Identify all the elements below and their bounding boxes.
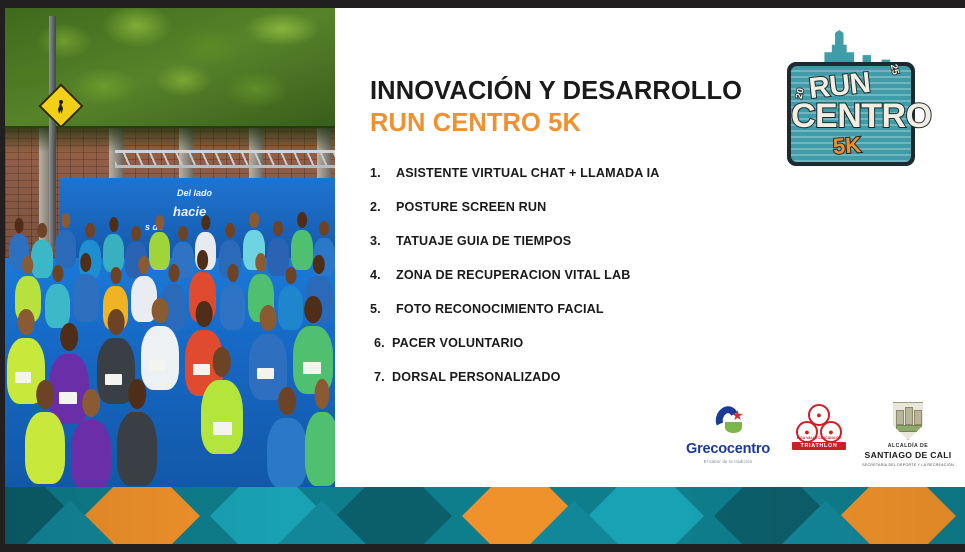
list-item: 1. ASISTENTE VIRTUAL CHAT + LLAMADA IA <box>370 166 800 180</box>
grecocentro-tagline: El sabor de la tradición <box>675 459 781 464</box>
pedestrian-figure-icon <box>55 100 67 114</box>
photo-runner <box>45 284 70 328</box>
list-item-number: 6. <box>374 336 392 350</box>
photo-runner <box>149 232 170 270</box>
list-item-number: 3. <box>370 234 396 248</box>
photo-race-bib <box>193 364 210 375</box>
chevron-footer-band <box>5 487 965 544</box>
cali-line-2: SANTIAGO DE CALI <box>862 450 954 460</box>
list-item-label: FOTO RECONOCIMIENTO FACIAL <box>396 302 604 316</box>
triathlon-league-name: LIGA VALLECAUCANA DE <box>792 436 846 440</box>
list-item: 4. ZONA DE RECUPERACION VITAL LAB <box>370 268 800 282</box>
cali-arms-tower <box>914 410 922 425</box>
photo-runner <box>267 418 307 487</box>
photo-race-bib <box>105 374 122 385</box>
logo-word-5k: 5K <box>832 132 862 160</box>
list-item-label: TATUAJE GUIA DE TIEMPOS <box>396 234 571 248</box>
sponsor-alcaldia-cali: ALCALDÍA DE SANTIAGO DE CALI SECRETARÍA … <box>862 402 954 467</box>
triathlon-mark-icon: ● ● ● LIGA VALLECAUCANA DE TRIATHLON <box>792 404 846 450</box>
cali-line-1: ALCALDÍA DE <box>862 443 954 449</box>
list-item-label: PACER VOLUNTARIO <box>392 336 523 350</box>
slide-viewer: s de Del lado hacie <box>0 0 965 552</box>
photo-runner <box>220 284 245 330</box>
photo-runner <box>117 412 157 486</box>
photo-race-bib <box>59 392 77 404</box>
grecocentro-leaf-icon <box>725 422 742 433</box>
list-item: 3. TATUAJE GUIA DE TIEMPOS <box>370 234 800 248</box>
race-photograph: s de Del lado hacie <box>5 8 335 487</box>
triathlon-wordmark: TRIATHLON <box>792 443 846 449</box>
list-item: 5. FOTO RECONOCIMIENTO FACIAL <box>370 302 800 316</box>
list-item-label: ZONA DE RECUPERACION VITAL LAB <box>396 268 630 282</box>
page-title: INNOVACIÓN Y DESARROLLO <box>370 76 790 106</box>
photo-race-bib <box>303 362 321 374</box>
photo-runner <box>25 412 65 484</box>
photo-runner <box>73 274 99 322</box>
photo-race-bib <box>149 360 166 371</box>
list-item-number: 4. <box>370 268 396 282</box>
logo-year-right: 25 <box>888 63 901 76</box>
sponsor-triathlon-league: ● ● ● LIGA VALLECAUCANA DE TRIATHLON <box>790 404 848 450</box>
slide-title-block: INNOVACIÓN Y DESARROLLO RUN CENTRO 5K <box>370 76 790 138</box>
list-item: 6. PACER VOLUNTARIO <box>370 336 800 350</box>
logo-word-centro: CENTRO <box>791 97 932 136</box>
list-item: 7. DORSAL PERSONALIZADO <box>370 370 800 384</box>
run-centro-5k-logo: RUN CENTRO 5K 20 25 <box>779 26 927 178</box>
cali-arms-tower <box>896 410 904 425</box>
sponsor-logo-row: Grecocentro El sabor de la tradición ● ●… <box>338 398 965 478</box>
photo-runner <box>71 420 111 487</box>
list-item-number: 1. <box>370 166 396 180</box>
list-item: 2. POSTURE SCREEN RUN <box>370 200 800 214</box>
photo-race-bib <box>257 368 274 379</box>
list-item-number: 5. <box>370 302 396 316</box>
sponsor-grecocentro: Grecocentro El sabor de la tradición <box>675 406 781 464</box>
photo-banner-text-1: Del lado <box>177 188 212 198</box>
swimmer-icon: ● <box>813 409 825 421</box>
photo-runner <box>55 230 76 268</box>
photo-race-bib <box>15 372 31 383</box>
cali-line-3: SECRETARÍA DEL DEPORTE Y LA RECREACIÓN <box>862 463 954 468</box>
photo-light-pole <box>49 16 56 246</box>
photo-runner <box>201 380 243 454</box>
list-item-number: 7. <box>374 370 392 384</box>
photo-scaffold-truss <box>115 150 335 168</box>
photo-runner <box>49 354 89 424</box>
grecocentro-mark-icon <box>708 406 748 440</box>
innovation-list: 1. ASISTENTE VIRTUAL CHAT + LLAMADA IA 2… <box>370 166 800 404</box>
photo-runner <box>31 240 53 278</box>
photo-runner <box>291 230 313 270</box>
list-item-label: DORSAL PERSONALIZADO <box>392 370 561 384</box>
list-item-label: ASISTENTE VIRTUAL CHAT + LLAMADA IA <box>396 166 660 180</box>
cali-coat-of-arms-icon <box>891 402 925 440</box>
photo-race-bib <box>213 422 232 435</box>
presentation-slide: s de Del lado hacie <box>5 8 965 544</box>
grecocentro-name: Grecocentro <box>675 442 781 457</box>
logo-year-left: 20 <box>794 87 807 100</box>
list-item-number: 2. <box>370 200 396 214</box>
page-subtitle: RUN CENTRO 5K <box>370 108 790 138</box>
photo-runner <box>278 286 303 330</box>
photo-runner <box>141 326 179 390</box>
cali-arms-base <box>896 425 922 432</box>
cali-arms-tower <box>905 407 913 425</box>
list-item-label: POSTURE SCREEN RUN <box>396 200 546 214</box>
photo-runner <box>305 412 335 486</box>
